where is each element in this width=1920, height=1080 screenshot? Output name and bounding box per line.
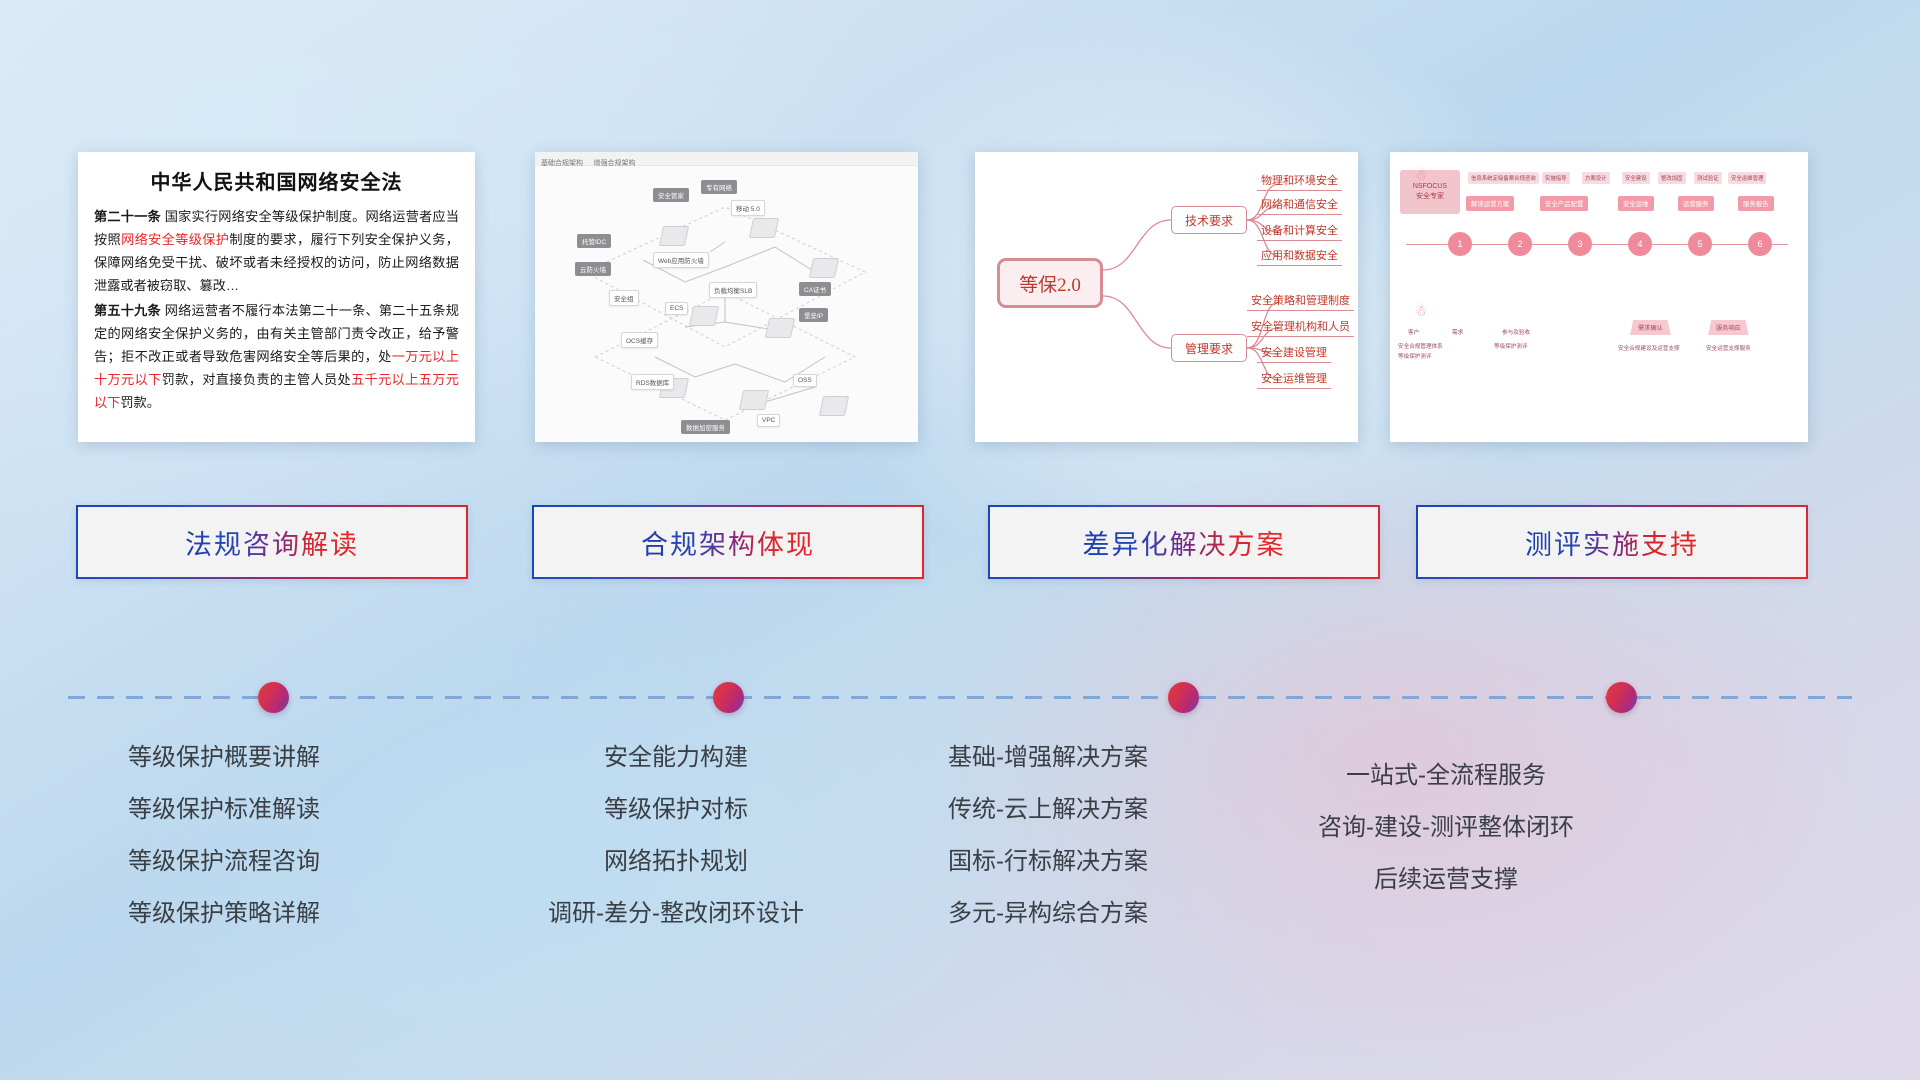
- timeline-dot-4[interactable]: [1606, 682, 1637, 713]
- roadmap-footer-note: 等级保护测评: [1494, 342, 1528, 350]
- roadmap-stage-2: 安全产品配置: [1540, 196, 1588, 211]
- image-card-row: 中华人民共和国网络安全法 第二十一条 国家实行网络安全等级保护制度。网络运营者应…: [0, 0, 1920, 480]
- architecture-diagram: 基础合规架构 增强合规架构: [535, 152, 918, 442]
- slide-canvas: 中华人民共和国网络安全法 第二十一条 国家实行网络安全等级保护制度。网络运营者应…: [0, 0, 1920, 1080]
- roadmap-chip-3: 方案设计: [1582, 172, 1610, 184]
- mindmap-branch-management: 管理要求: [1171, 334, 1247, 362]
- customer-icon: ☃: [1414, 302, 1427, 320]
- node-security-butler: 安全管家: [653, 188, 689, 202]
- phase-items-4: 一站式-全流程服务 咨询-建设-测评整体闭环 后续运营支撑: [1236, 764, 1656, 920]
- mindmap-leaf-org-personnel: 安全管理机构和人员: [1247, 318, 1354, 337]
- roadmap-chip-7: 安全运维管理: [1728, 172, 1766, 184]
- phase-items-2: 安全能力构建 等级保护对标 网络拓扑规划 调研-差分-整改闭环设计: [474, 746, 878, 954]
- node-security-group: 安全组: [609, 290, 639, 306]
- mindmap-branch-technical: 技术要求: [1171, 206, 1247, 234]
- mindmap-leaf-device-compute: 设备和计算安全: [1257, 222, 1342, 241]
- law-title: 中华人民共和国网络安全法: [94, 166, 459, 195]
- roadmap-customer-label: 客户: [1408, 328, 1419, 336]
- roadmap-customer-note-2: 等级保护测评: [1398, 352, 1432, 360]
- roadmap-step-2: 2: [1508, 232, 1532, 256]
- roadmap-chip-4: 安全建设: [1622, 172, 1650, 184]
- roadmap-customer-note-1: 安全合规管理体系: [1398, 342, 1443, 350]
- mindmap-leaf-network-comm: 网络和通信安全: [1257, 196, 1342, 215]
- roadmap-brand: NSFOCUS 安全专家: [1400, 170, 1460, 214]
- article-59-text-c: 罚款。: [120, 395, 160, 410]
- list-item: 等级保护概要讲解: [22, 746, 426, 770]
- roadmap-footer-confirm: 需求确认: [1630, 320, 1671, 335]
- card-cybersecurity-law[interactable]: 中华人民共和国网络安全法 第二十一条 国家实行网络安全等级保护制度。网络运营者应…: [78, 152, 475, 442]
- node-ca-cert: CA证书: [799, 282, 831, 296]
- article-59-label: 第五十九条: [94, 303, 161, 318]
- node-rds: RDS数据库: [631, 374, 674, 390]
- list-item: 等级保护标准解读: [22, 798, 426, 822]
- article-21-highlight: 网络安全等级保护: [121, 232, 229, 247]
- roadmap-stage-4: 运营服务: [1678, 196, 1714, 211]
- node-cloud-firewall: 云防火墙: [575, 262, 611, 276]
- list-item: 安全能力构建: [474, 746, 878, 770]
- node-cube-4: [689, 306, 719, 326]
- node-cube-8: [819, 396, 849, 416]
- timeline: [68, 696, 1852, 699]
- node-cube-1: [659, 226, 689, 246]
- node-cube-5: [765, 318, 795, 338]
- roadmap-step-5: 5: [1688, 232, 1712, 256]
- mindmap-leaf-policy-system: 安全策略和管理制度: [1247, 292, 1354, 311]
- card-service-roadmap[interactable]: NSFOCUS 安全专家 ☃ 信息系统定级备案合规咨询 实施指导 方案设计 安全…: [1390, 152, 1808, 442]
- phase-box-compliance-architecture[interactable]: 合规架构体现: [532, 505, 924, 579]
- node-center-vpc: 专有网络: [701, 180, 737, 194]
- node-managed-idc: 托管IDC: [577, 234, 611, 248]
- list-item: 咨询-建设-测评整体闭环: [1236, 816, 1656, 840]
- roadmap-brand-sub: 安全专家: [1416, 192, 1444, 202]
- roadmap-footer-demand: 需求: [1452, 328, 1463, 336]
- list-item: 等级保护对标: [474, 798, 878, 822]
- card-cloud-architecture[interactable]: 基础合规架构 增强合规架构: [535, 152, 918, 442]
- node-ecs: ECS: [665, 302, 688, 315]
- roadmap-step-3: 3: [1568, 232, 1592, 256]
- timeline-dot-2[interactable]: [713, 682, 744, 713]
- roadmap-footer-sub-1: 安全合规建设及运营支撑: [1618, 344, 1680, 352]
- list-item: 等级保护策略详解: [22, 902, 426, 926]
- node-vpc: VPC: [757, 414, 780, 427]
- node-data-encryption: 数据加密服务: [681, 420, 730, 434]
- timeline-dot-3[interactable]: [1168, 682, 1199, 713]
- list-item: 基础-增强解决方案: [838, 746, 1258, 770]
- phase-title-4: 测评实施支持: [1525, 523, 1699, 562]
- list-item: 调研-差分-整改闭环设计: [474, 902, 878, 926]
- card-dengbao-mindmap[interactable]: 等保2.0 技术要求 管理要求 物理和环境安全 网络和通信安全 设备和计算安全 …: [975, 152, 1358, 442]
- law-article-59: 第五十九条 网络运营者不履行本法第二十一条、第二十五条规定的网络安全保护义务的，…: [94, 300, 459, 415]
- mindmap-leaf-construction-mgmt: 安全建设管理: [1257, 344, 1331, 363]
- node-cube-3: [809, 258, 839, 278]
- roadmap-step-4: 4: [1628, 232, 1652, 256]
- roadmap-chip-5: 整改加固: [1658, 172, 1686, 184]
- node-bastion-ip: 堡垒IP: [799, 308, 828, 322]
- expert-icon: ☃: [1414, 166, 1427, 184]
- timeline-dot-1[interactable]: [258, 682, 289, 713]
- phase-items-1: 等级保护概要讲解 等级保护标准解读 等级保护流程咨询 等级保护策略详解: [22, 746, 426, 954]
- roadmap-stage-3: 安全运维: [1618, 196, 1654, 211]
- phase-box-differentiated-solution[interactable]: 差异化解决方案: [988, 505, 1380, 579]
- law-article-21: 第二十一条 国家实行网络安全等级保护制度。网络运营者应当按照网络安全等级保护制度…: [94, 206, 459, 298]
- law-document: 中华人民共和国网络安全法 第二十一条 国家实行网络安全等级保护制度。网络运营者应…: [78, 152, 475, 425]
- roadmap-chip-6: 测试验证: [1694, 172, 1722, 184]
- roadmap-step-6: 6: [1748, 232, 1772, 256]
- phase-title-3: 差异化解决方案: [1083, 523, 1286, 562]
- mindmap-leaf-ops-mgmt: 安全运维管理: [1257, 370, 1331, 389]
- phase-title-2: 合规架构体现: [641, 523, 815, 562]
- phase-box-assessment-support[interactable]: 测评实施支持: [1416, 505, 1808, 579]
- article-21-label: 第二十一条: [94, 209, 161, 224]
- roadmap-diagram: NSFOCUS 安全专家 ☃ 信息系统定级备案合规咨询 实施指导 方案设计 安全…: [1390, 152, 1808, 442]
- roadmap-stage-5: 服务报告: [1738, 196, 1774, 211]
- roadmap-stage-1: 解读运营方案: [1466, 196, 1514, 211]
- timeline-dashed-line: [68, 696, 1852, 699]
- node-oss: OSS: [793, 374, 817, 387]
- node-mobile-50: 移动 5.0: [731, 200, 765, 216]
- mindmap-leaf-app-data: 应用和数据安全: [1257, 247, 1342, 266]
- mindmap-leaf-physical-env: 物理和环境安全: [1257, 172, 1342, 191]
- roadmap-chip-2: 实施指导: [1542, 172, 1570, 184]
- list-item: 国标-行标解决方案: [838, 850, 1258, 874]
- list-item: 多元-异构综合方案: [838, 902, 1258, 926]
- node-cube-7: [739, 390, 769, 410]
- phase-box-regulation-consulting[interactable]: 法规咨询解读: [76, 505, 468, 579]
- mindmap-diagram: 等保2.0 技术要求 管理要求 物理和环境安全 网络和通信安全 设备和计算安全 …: [975, 152, 1358, 442]
- roadmap-footer-acceptance: 参与及验收: [1502, 328, 1530, 336]
- list-item: 后续运营支撑: [1236, 868, 1656, 892]
- node-ocs-cache: OCS缓存: [621, 332, 658, 348]
- article-59-text-b: 罚款，对直接负责的主管人员处: [162, 372, 351, 387]
- list-item: 网络拓扑规划: [474, 850, 878, 874]
- roadmap-chip-1: 信息系统定级备案合规咨询: [1468, 172, 1539, 184]
- phase-title-1: 法规咨询解读: [185, 523, 359, 562]
- phase-items-3: 基础-增强解决方案 传统-云上解决方案 国标-行标解决方案 多元-异构综合方案: [838, 746, 1258, 954]
- mindmap-root: 等保2.0: [997, 258, 1103, 308]
- roadmap-step-1: 1: [1448, 232, 1472, 256]
- node-waf: Web应用防火墙: [653, 252, 709, 268]
- roadmap-footer-sub-2: 安全运营支撑服务: [1706, 344, 1751, 352]
- node-cube-2: [749, 218, 779, 238]
- roadmap-footer-response: 服务响应: [1708, 320, 1749, 335]
- list-item: 传统-云上解决方案: [838, 798, 1258, 822]
- list-item: 等级保护流程咨询: [22, 850, 426, 874]
- node-slb: 负载均衡SLB: [709, 282, 757, 298]
- list-item: 一站式-全流程服务: [1236, 764, 1656, 788]
